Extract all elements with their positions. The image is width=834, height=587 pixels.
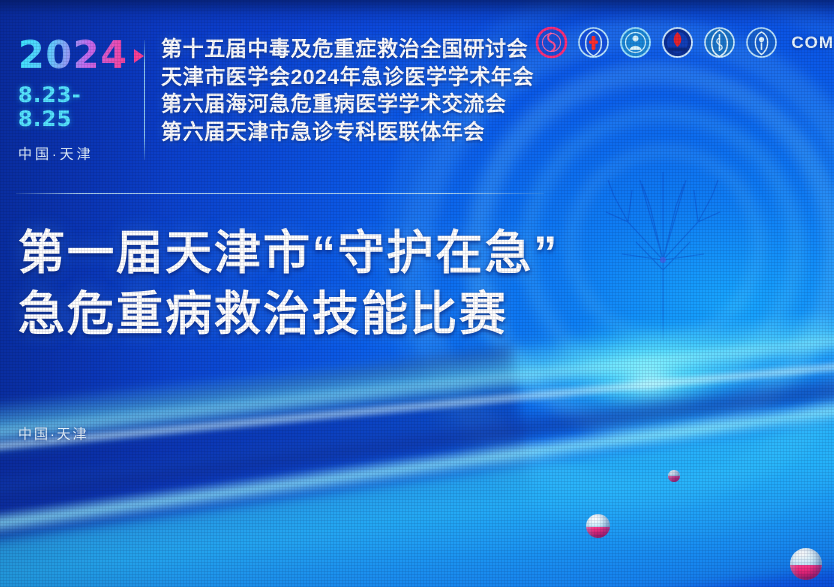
header-location: 中国·天津 (18, 144, 130, 164)
logo-hospital-badge (745, 26, 778, 59)
logo-medical-serpent-pink (535, 26, 568, 59)
year-date-block: 2024 8.23-8.25 中国·天津 (18, 36, 144, 164)
conference-title-line: 天津市医学会2024年急诊医学学术年会 (161, 64, 534, 92)
logo-red-emblem (661, 26, 694, 59)
conference-title-line: 第六届海河急危重病医学学术交流会 (161, 91, 534, 119)
footer-location: 中国·天津 (18, 424, 89, 444)
headline-line-1: 第一届天津市“守护在急” (18, 222, 559, 283)
floating-sphere (586, 514, 610, 538)
event-dates: 8.23-8.25 (18, 83, 130, 131)
background-glow-core (554, 318, 744, 438)
main-headline: 第一届天津市“守护在急” 急危重病救治技能比赛 (18, 222, 559, 344)
floating-sphere (668, 470, 680, 482)
bronchial-tree-graphic (588, 150, 738, 340)
organization-logo-strip: COM (535, 26, 834, 59)
year-label: 2024 (18, 36, 128, 74)
background-top-shade (0, 0, 834, 26)
floating-sphere (790, 548, 822, 580)
conference-title-line: 第六届天津市急诊专科医联体年会 (161, 119, 534, 147)
logo-strip-trailing-text: COM (791, 33, 834, 53)
logo-laurel-staff (703, 26, 736, 59)
headline-line-2: 急危重病救治技能比赛 (18, 283, 559, 344)
conference-backdrop-screen: COM 2024 8.23-8.25 中国·天津 第十五届中毒及危重症救治全国研… (0, 0, 834, 587)
conference-title-list: 第十五届中毒及危重症救治全国研讨会 天津市医学会2024年急诊医学学术年会 第六… (145, 36, 534, 164)
header-block: 2024 8.23-8.25 中国·天津 第十五届中毒及危重症救治全国研讨会 天… (18, 36, 534, 164)
logo-medical-association (619, 26, 652, 59)
conference-title-line: 第十五届中毒及危重症救治全国研讨会 (161, 36, 534, 64)
triangle-right-icon (134, 49, 144, 63)
header-horizontal-divider (16, 193, 544, 194)
logo-emergency-society (577, 26, 610, 59)
